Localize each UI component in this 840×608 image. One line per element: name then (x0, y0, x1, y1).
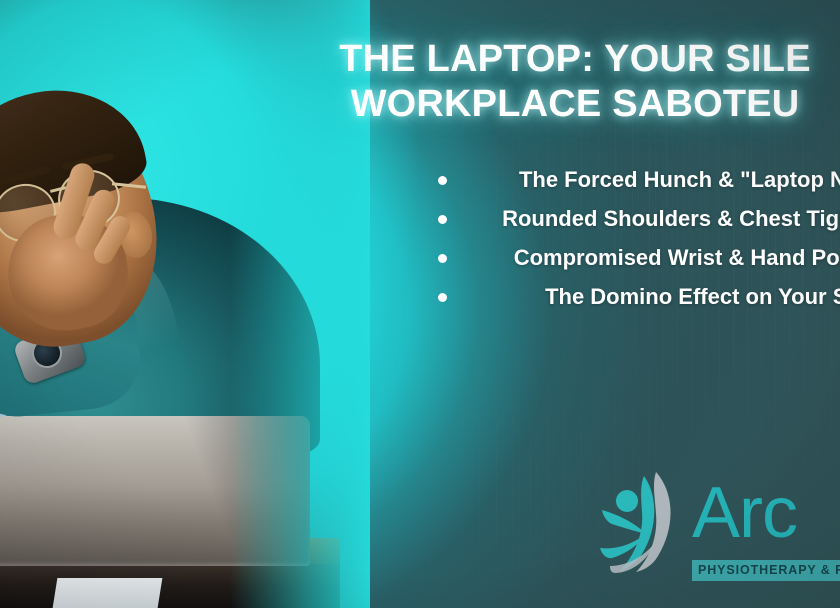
desk-front-edge (0, 564, 340, 608)
brand-name: Arc (692, 470, 797, 556)
brand-tagline: PHYSIOTHERAPY & REHABI (692, 560, 840, 581)
list-item: Compromised Wrist & Hand Position (424, 240, 840, 275)
list-item: The Domino Effect on Your Spi (424, 279, 840, 314)
laptop (0, 416, 310, 566)
human-figure-icon (600, 470, 692, 574)
list-item: Rounded Shoulders & Chest Tightness (424, 201, 840, 236)
brand-logo: Arc PHYSIOTHERAPY & REHABI (600, 466, 840, 596)
title-line-2: WORKPLACE SABOTEU (255, 82, 840, 127)
title-line-1: THE LAPTOP: YOUR SILE (255, 37, 840, 82)
laptop-shading (160, 416, 310, 566)
list-item: The Forced Hunch & "Laptop Neck" (424, 162, 840, 197)
infographic-canvas: THE LAPTOP: YOUR SILE WORKPLACE SABOTEU … (0, 0, 840, 608)
paper-sheet (53, 578, 163, 608)
page-title: THE LAPTOP: YOUR SILE WORKPLACE SABOTEU (255, 37, 840, 127)
bullet-list: The Forced Hunch & "Laptop Neck" Rounded… (424, 162, 840, 318)
